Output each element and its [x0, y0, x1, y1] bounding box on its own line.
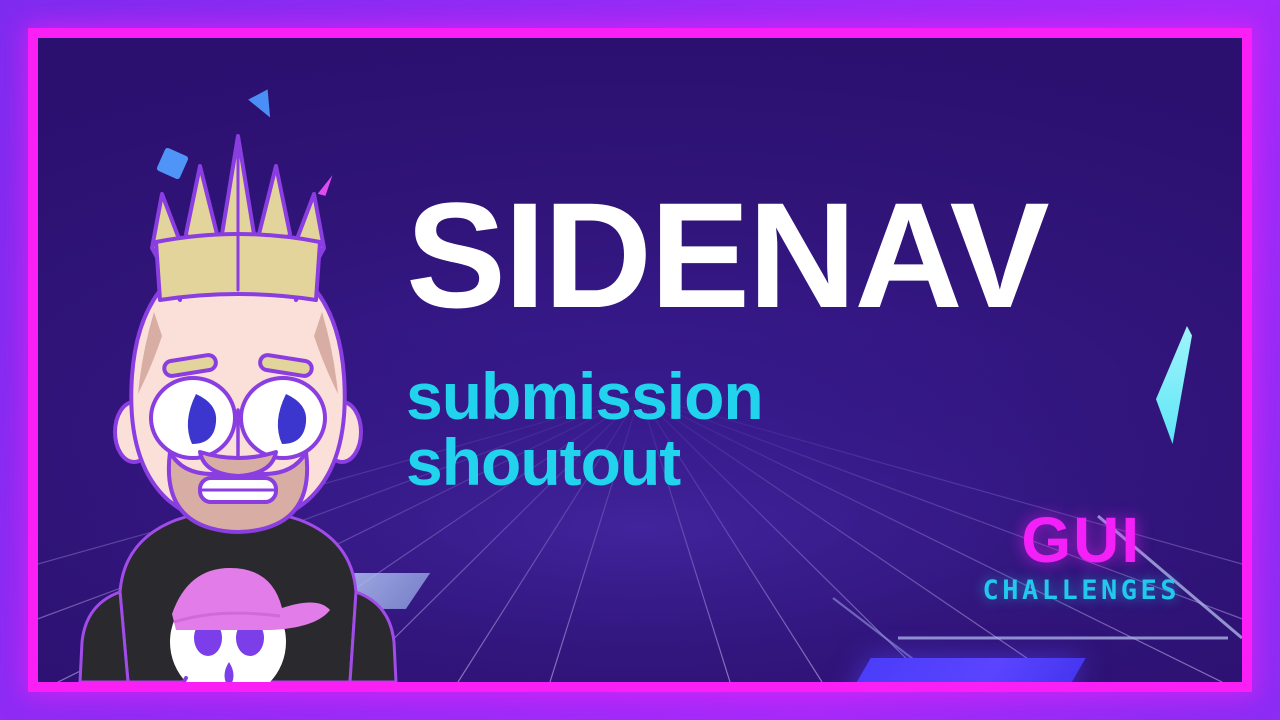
grid-tile-right	[845, 658, 1085, 682]
slide-stage: SIDENAV submission shoutout GUI CHALLENG…	[38, 38, 1242, 682]
logo-secondary-text: CHALLENGES	[982, 575, 1180, 606]
page-subtitle: submission shoutout	[406, 363, 763, 495]
avatar-svg	[58, 122, 418, 682]
subtitle-line-1: submission	[406, 359, 763, 433]
subtitle-line-2: shoutout	[406, 429, 763, 495]
slide-canvas: SIDENAV submission shoutout GUI CHALLENG…	[0, 0, 1280, 720]
gui-challenges-logo: GUI CHALLENGES	[982, 510, 1180, 606]
page-title: SIDENAV	[406, 180, 1048, 330]
avatar-illustration-icon	[58, 122, 418, 682]
logo-primary-text: GUI	[982, 510, 1180, 571]
